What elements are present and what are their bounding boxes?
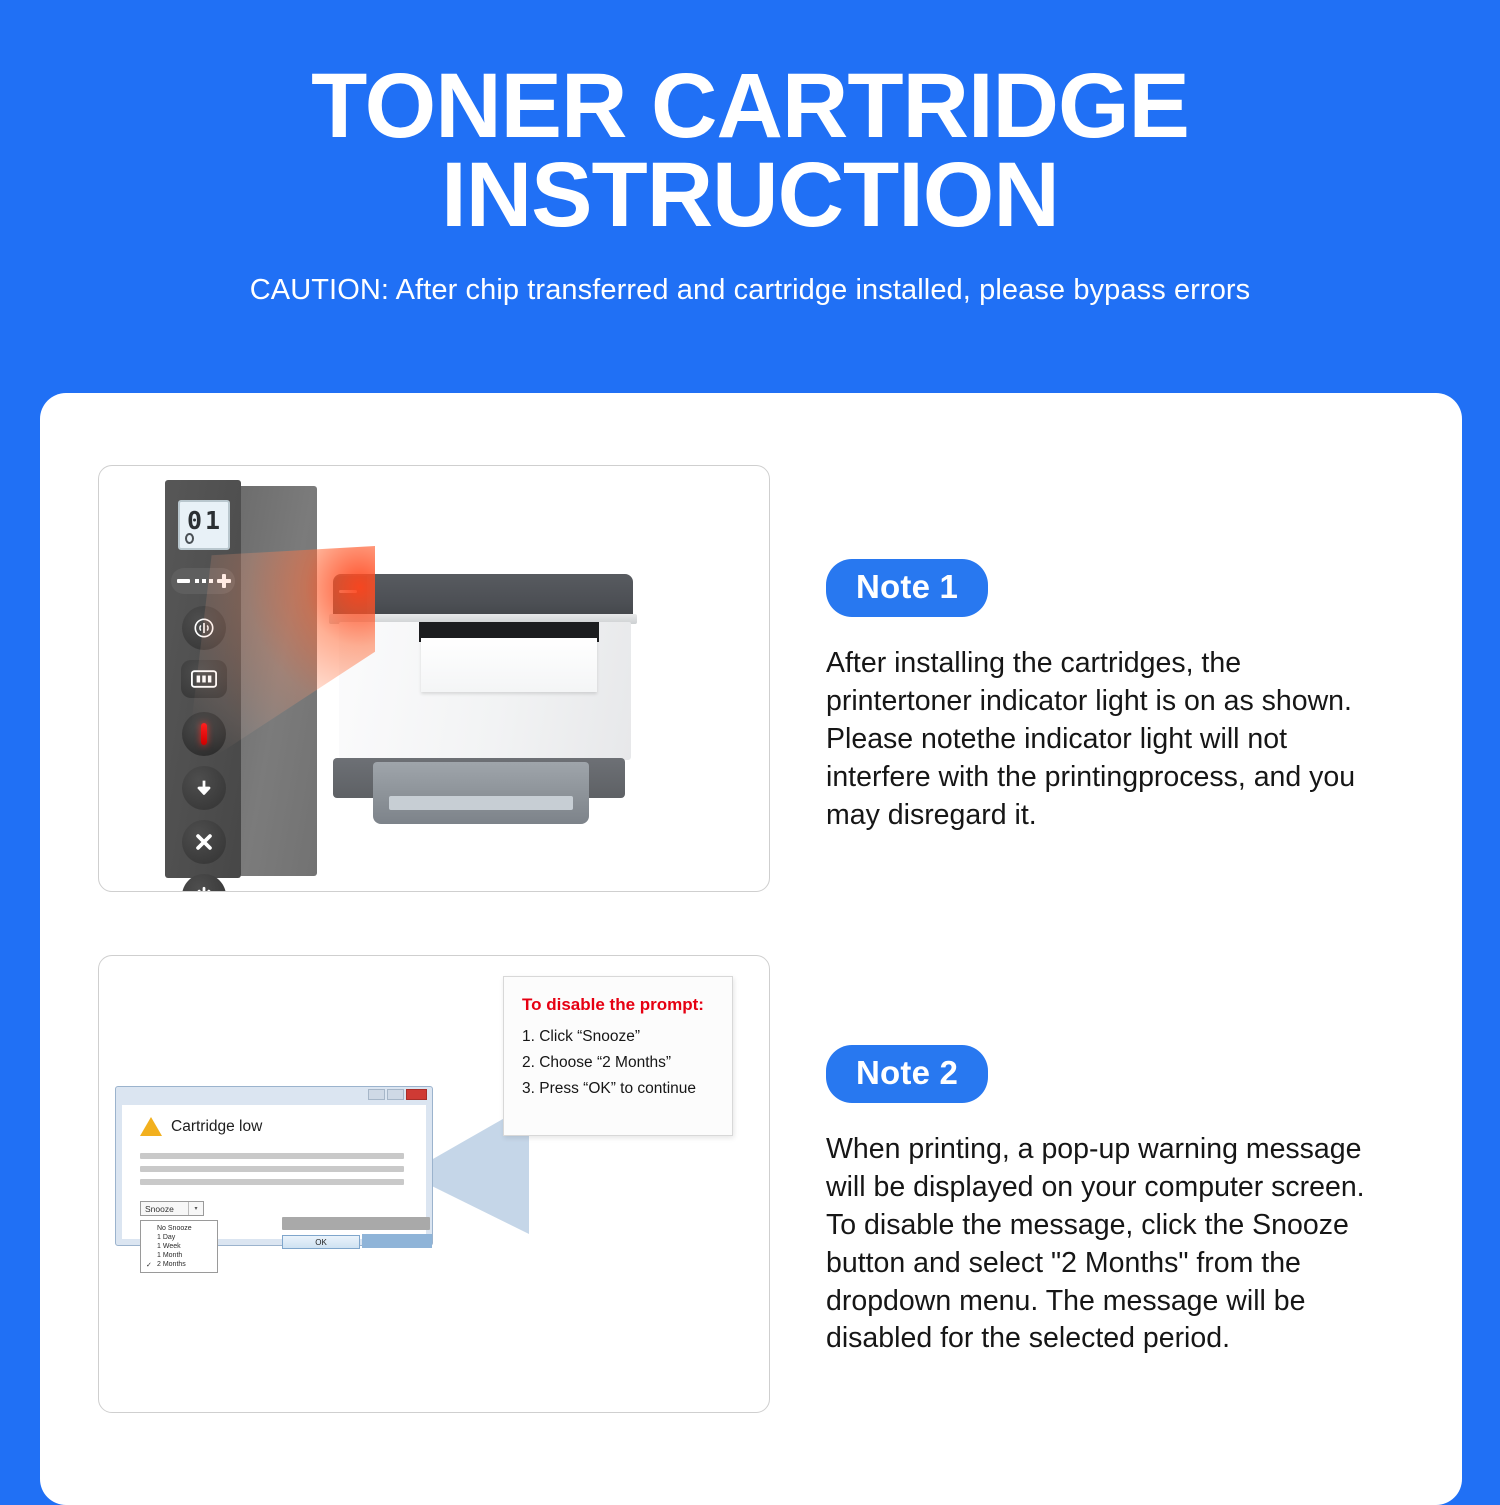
dots-icon[interactable] <box>195 579 213 583</box>
note-1-body: After installing the cartridges, the pri… <box>826 645 1371 834</box>
cancel-button[interactable] <box>182 820 226 864</box>
dialog-blue-bar <box>362 1234 432 1248</box>
note-1-row: 01 <box>98 465 1371 892</box>
page-title: TONER CARTRIDGE INSTRUCTION <box>190 62 1310 240</box>
plus-icon[interactable] <box>217 574 231 588</box>
snooze-option[interactable]: 1 Day <box>141 1233 217 1242</box>
cartridge-low-dialog: Cartridge low Snooze ▾ No Snoo <box>115 1086 433 1246</box>
note-2-body: When printing, a pop-up warning message … <box>826 1131 1371 1358</box>
page-title-line-1: TONER CARTRIDGE <box>190 62 1310 151</box>
printer-illustration <box>317 566 647 841</box>
ok-button[interactable]: OK <box>282 1235 360 1249</box>
warning-triangle-icon <box>140 1117 162 1136</box>
callout-steps: 1. Click “Snooze” 2. Choose “2 Months” 3… <box>522 1028 718 1098</box>
control-panel-side <box>241 486 317 876</box>
printer-lid <box>333 574 633 616</box>
dialog-warning-title: Cartridge low <box>171 1118 262 1136</box>
snooze-option-selected[interactable]: 2 Months <box>141 1260 217 1269</box>
page-subtitle: CAUTION: After chip transferred and cart… <box>0 274 1500 307</box>
printer-tray-slot <box>389 796 573 810</box>
note-2-badge: Note 2 <box>826 1045 988 1103</box>
id-card-icon <box>191 670 217 688</box>
dialog-content: Cartridge low Snooze ▾ No Snoo <box>122 1105 426 1239</box>
minimize-icon[interactable] <box>368 1089 385 1100</box>
wireless-icon <box>193 617 215 639</box>
snooze-option[interactable]: 1 Week <box>141 1242 217 1251</box>
dialog-scene: Cartridge low Snooze ▾ No Snoo <box>99 956 769 1412</box>
minus-icon[interactable] <box>177 579 190 583</box>
printer-output-paper <box>421 638 597 692</box>
illustration-panel-dialog: Cartridge low Snooze ▾ No Snoo <box>98 955 770 1413</box>
close-icon[interactable] <box>406 1089 427 1100</box>
printer-paper-tray <box>373 762 589 824</box>
wireless-button[interactable] <box>182 606 226 650</box>
snooze-option[interactable]: 1 Month <box>141 1251 217 1260</box>
note-2-row: Cartridge low Snooze ▾ No Snoo <box>98 955 1371 1413</box>
printer-scene: 01 <box>99 466 769 891</box>
power-icon <box>193 885 215 892</box>
close-x-icon <box>193 831 215 853</box>
maximize-icon[interactable] <box>387 1089 404 1100</box>
toner-drop-icon <box>185 533 194 544</box>
callout-step: 3. Press “OK” to continue <box>522 1080 718 1098</box>
note-2-text-column: Note 2 When printing, a pop-up warning m… <box>826 955 1371 1358</box>
dialog-placeholder-text <box>140 1153 404 1192</box>
snooze-option[interactable]: No Snooze <box>141 1224 217 1233</box>
snooze-option-list: No Snooze 1 Day 1 Week 1 Month 2 Months <box>141 1224 217 1269</box>
content-card: 01 <box>40 393 1462 1505</box>
arrow-down-icon <box>193 777 215 799</box>
callout-title: To disable the prompt: <box>522 995 718 1015</box>
alert-light-icon <box>201 723 207 745</box>
lcd-display: 01 <box>178 500 230 550</box>
lcd-value: 01 <box>187 508 223 533</box>
id-card-button[interactable] <box>181 660 227 698</box>
note-1-text-column: Note 1 After installing the cartridges, … <box>826 465 1371 834</box>
copies-rocker-control[interactable] <box>171 568 235 594</box>
control-panel: 01 <box>165 480 317 878</box>
note-1-badge: Note 1 <box>826 559 988 617</box>
callout-step: 1. Click “Snooze” <box>522 1028 718 1046</box>
snooze-dropdown-button[interactable]: Snooze ▾ <box>140 1201 204 1216</box>
toner-alert-indicator <box>182 712 226 756</box>
snooze-dropdown-menu[interactable]: No Snooze 1 Day 1 Week 1 Month 2 Months <box>140 1220 218 1273</box>
illustration-panel-printer: 01 <box>98 465 770 892</box>
snooze-button-label: Snooze <box>141 1204 188 1214</box>
page-header: TONER CARTRIDGE INSTRUCTION CAUTION: Aft… <box>0 0 1500 307</box>
dialog-grey-bar <box>282 1217 430 1230</box>
page-title-line-2: INSTRUCTION <box>190 151 1310 240</box>
printer-lid-control-strip <box>333 576 367 614</box>
resume-down-button[interactable] <box>182 766 226 810</box>
dialog-button-row: OK <box>282 1217 432 1249</box>
callout-step: 2. Choose “2 Months” <box>522 1054 718 1072</box>
disable-prompt-callout: To disable the prompt: 1. Click “Snooze”… <box>503 976 733 1136</box>
dialog-warning-row: Cartridge low <box>140 1117 262 1136</box>
chevron-down-icon[interactable]: ▾ <box>189 1205 203 1212</box>
printer-body <box>339 622 631 760</box>
dialog-window-controls <box>368 1089 427 1100</box>
